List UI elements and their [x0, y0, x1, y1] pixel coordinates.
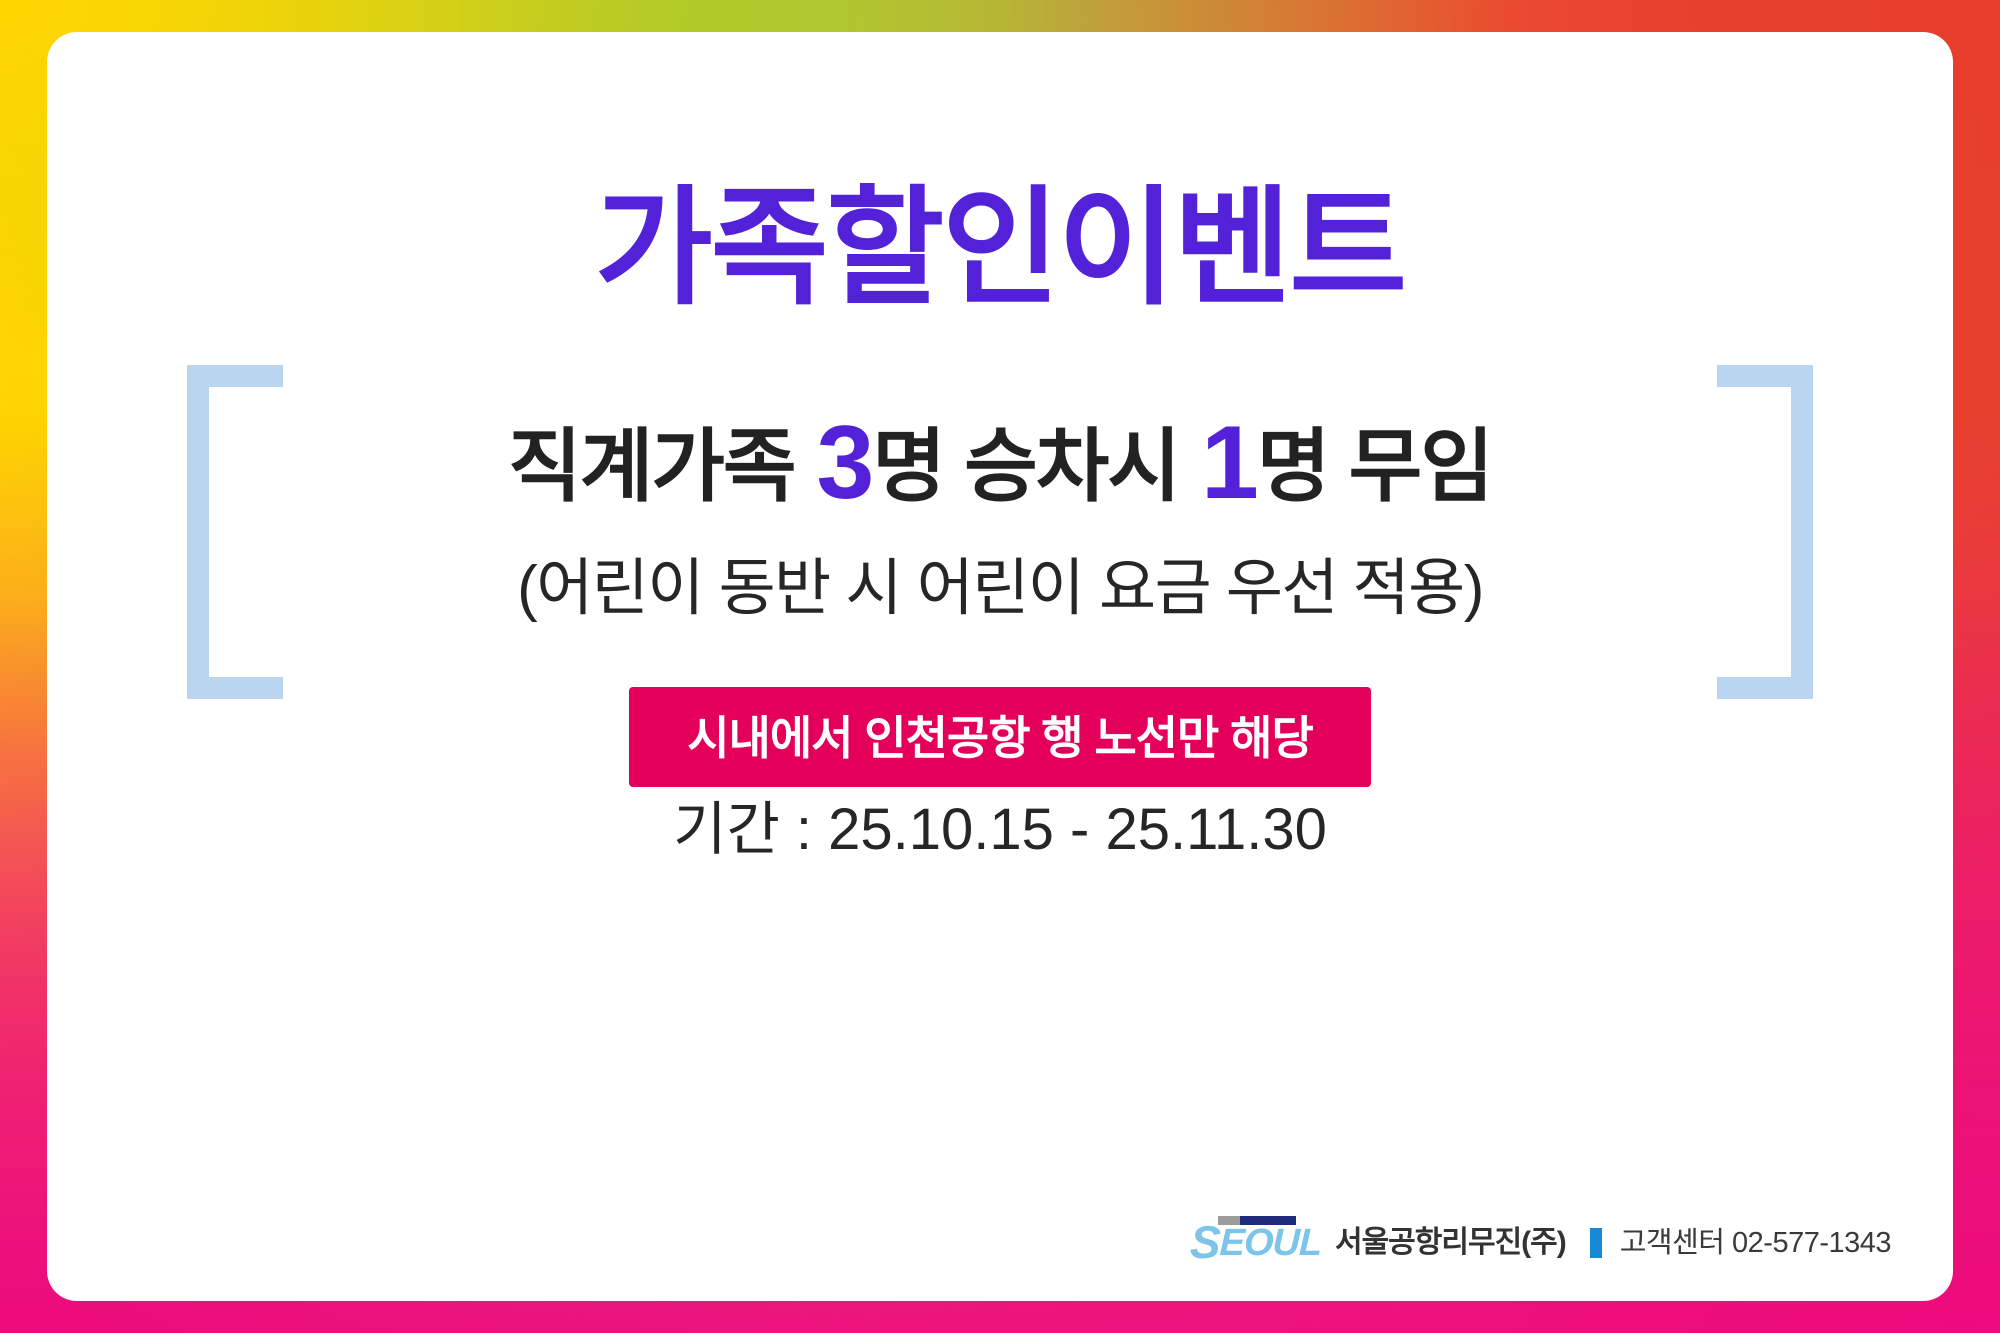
contact-info: 고객센터 02-577-1343: [1620, 1229, 1891, 1261]
bracket-right-icon: [1717, 365, 1813, 699]
badge-row: 시내에서 인천공항 행 노선만 해당: [47, 687, 1953, 787]
offer-number-3: 3: [817, 405, 873, 521]
logo-rest: EOUL: [1219, 1222, 1322, 1264]
logo-wordmark: SEOUL: [1189, 1219, 1322, 1265]
footer-divider: [1590, 1228, 1602, 1258]
status-badge: 시내에서 인천공항 행 노선만 해당: [629, 687, 1371, 787]
offer-part-3: 명 무임: [1257, 422, 1492, 511]
offer-part-1: 직계가족: [508, 422, 794, 511]
offer-headline: 직계가족3명 승차시1명 무임: [187, 417, 1813, 511]
bracket-left-icon: [187, 365, 283, 699]
offer-note: (어린이 동반 시 어린이 요금 우선 적용): [187, 537, 1813, 627]
promo-poster: 가족할인이벤트 직계가족3명 승차시1명 무임 (어린이 동반 시 어린이 요금…: [0, 0, 2000, 1333]
offer-part-2: 명 승차시: [872, 422, 1179, 511]
white-card: 가족할인이벤트 직계가족3명 승차시1명 무임 (어린이 동반 시 어린이 요금…: [47, 32, 1953, 1301]
offer-bracket-block: 직계가족3명 승차시1명 무임 (어린이 동반 시 어린이 요금 우선 적용): [187, 365, 1813, 655]
offer-number-1: 1: [1201, 405, 1257, 521]
seoul-logo: SEOUL: [1190, 1209, 1321, 1261]
logo-initial: S: [1189, 1216, 1221, 1268]
footer: SEOUL 서울공항리무진(주) 고객센터 02-577-1343: [1190, 1209, 1891, 1261]
period-text: 기간 : 25.10.15 - 25.11.30: [47, 782, 1953, 866]
company-name: 서울공항리무진(주): [1335, 1228, 1566, 1261]
page-title: 가족할인이벤트: [47, 180, 1953, 318]
